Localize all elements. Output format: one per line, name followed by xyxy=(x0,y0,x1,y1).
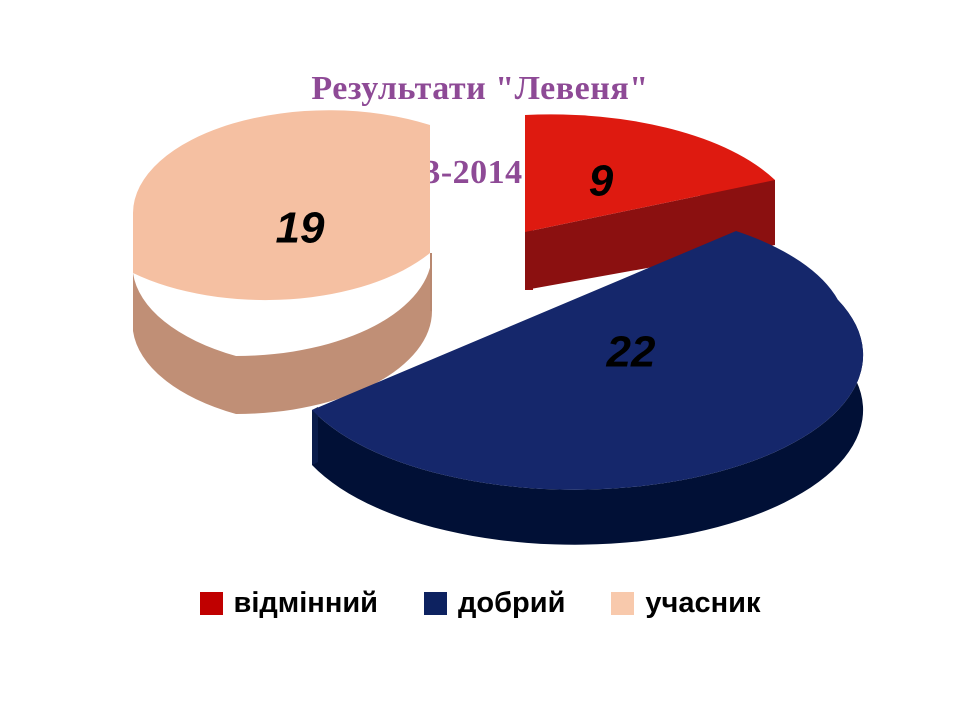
legend-label-dobryi: добрий xyxy=(458,588,565,618)
legend-label-vidminnyi: відмінний xyxy=(234,588,379,618)
legend-item-vidminnyi[interactable]: відмінний xyxy=(200,588,379,618)
legend-item-dobryi[interactable]: добрий xyxy=(424,588,565,618)
pie-slice-uchasnyk-radial-face xyxy=(430,253,432,311)
chart-legend: відмінний добрий учасник xyxy=(0,588,960,618)
legend-swatch-uchasnyk xyxy=(611,592,634,615)
chart-canvas: Результати "Левеня" (2013-2014 н.р.) 19 … xyxy=(0,0,960,720)
legend-item-uchasnyk[interactable]: учасник xyxy=(611,588,760,618)
legend-swatch-vidminnyi xyxy=(200,592,223,615)
pie-slice-dobryi-radial-face xyxy=(312,407,318,465)
legend-swatch-dobryi xyxy=(424,592,447,615)
pie-slice-uchasnyk-value: 19 xyxy=(276,204,325,253)
pie-slice-uchasnyk[interactable]: 19 xyxy=(133,110,432,414)
legend-label-uchasnyk: учасник xyxy=(645,588,760,618)
pie-slice-vidminnyi-value: 9 xyxy=(589,157,614,206)
pie-slice-dobryi-value: 22 xyxy=(606,328,656,377)
